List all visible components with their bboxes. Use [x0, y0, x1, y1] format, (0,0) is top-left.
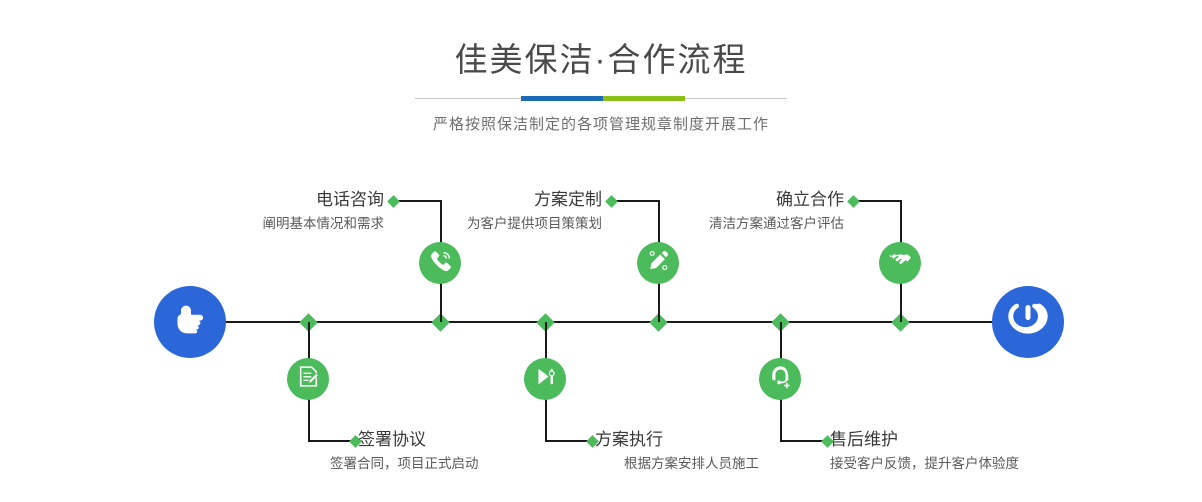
handshake-icon [888, 248, 913, 278]
pencil-design-icon [646, 248, 671, 278]
header: 佳美保洁·合作流程 严格按照保洁制定的各项管理规章制度开展工作 [0, 0, 1202, 136]
step-desc-1: 阐明基本情况和需求 [139, 215, 384, 233]
label-diamond-step1 [387, 195, 400, 208]
step-desc-3: 为客户提供项目策策划 [357, 215, 602, 233]
step-desc-2: 签署合同，项目正式启动 [330, 455, 610, 473]
divider-blue-segment [521, 96, 603, 101]
node-circle-step3[interactable] [637, 242, 679, 284]
step-title-5: 确立合作 [649, 190, 844, 210]
node-circle-step6[interactable] [759, 358, 801, 400]
step-title-3: 方案定制 [407, 190, 602, 210]
divider-green-segment [603, 96, 685, 101]
power-icon [1008, 300, 1048, 345]
node-circle-step5[interactable] [879, 242, 921, 284]
node-circle-step4[interactable] [524, 358, 566, 400]
node-circle-step2[interactable] [287, 358, 329, 400]
node-circle-step1[interactable] [419, 242, 461, 284]
document-sign-icon [296, 364, 321, 394]
play-execute-icon [533, 364, 558, 394]
process-flow-infographic: 佳美保洁·合作流程 严格按照保洁制定的各项管理规章制度开展工作 [0, 0, 1202, 502]
label-diamond-step5 [847, 195, 860, 208]
step-desc-6: 接受客户反馈，提升客户体验度 [830, 455, 1130, 473]
label-diamond-step3 [605, 195, 618, 208]
customer-service-icon [768, 364, 793, 394]
phone-call-icon [428, 248, 453, 278]
timeline-start-endpoint[interactable] [154, 286, 226, 358]
step-desc-5: 清洁方案通过客户评估 [599, 215, 844, 233]
step-title-1: 电话咨询 [189, 190, 384, 210]
step-title-6: 售后维护 [830, 430, 1090, 450]
page-title: 佳美保洁·合作流程 [0, 40, 1202, 80]
title-divider [415, 94, 787, 104]
timeline-end-endpoint[interactable] [992, 286, 1064, 358]
page-subtitle: 严格按照保洁制定的各项管理规章制度开展工作 [0, 114, 1202, 136]
pointing-hand-icon [170, 300, 210, 345]
